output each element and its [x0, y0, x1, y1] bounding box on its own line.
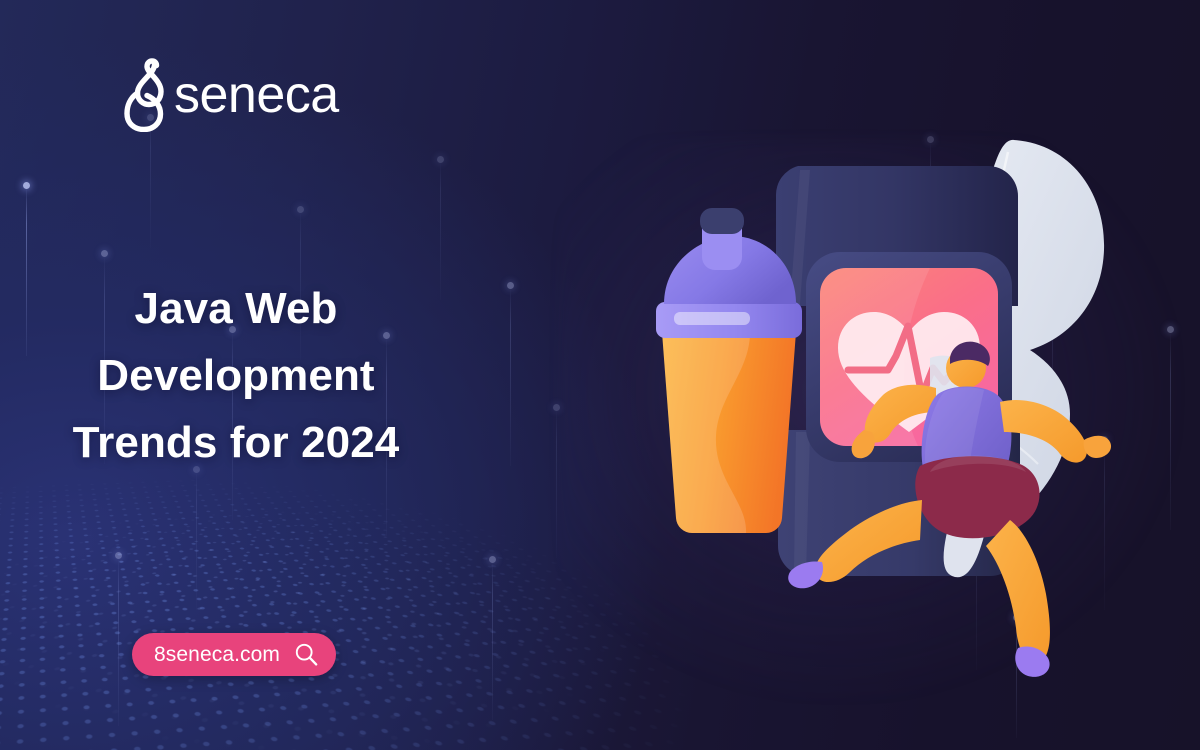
website-url-label: 8seneca.com [154, 644, 280, 665]
infinity-eight-mark-icon [124, 58, 168, 132]
brand-wordmark: seneca [174, 69, 339, 121]
brand-logo[interactable]: seneca [124, 58, 339, 132]
title-line-2: Development [40, 343, 432, 410]
website-badge[interactable]: 8seneca.com [132, 633, 336, 676]
title-line-3: Trends for 2024 [40, 410, 432, 477]
banner-canvas: seneca Java Web Development Trends for 2… [0, 0, 1200, 750]
title-line-1: Java Web [40, 276, 432, 343]
search-icon[interactable] [294, 642, 319, 667]
page-title: Java Web Development Trends for 2024 [40, 276, 432, 477]
hero-illustration [600, 100, 1160, 660]
